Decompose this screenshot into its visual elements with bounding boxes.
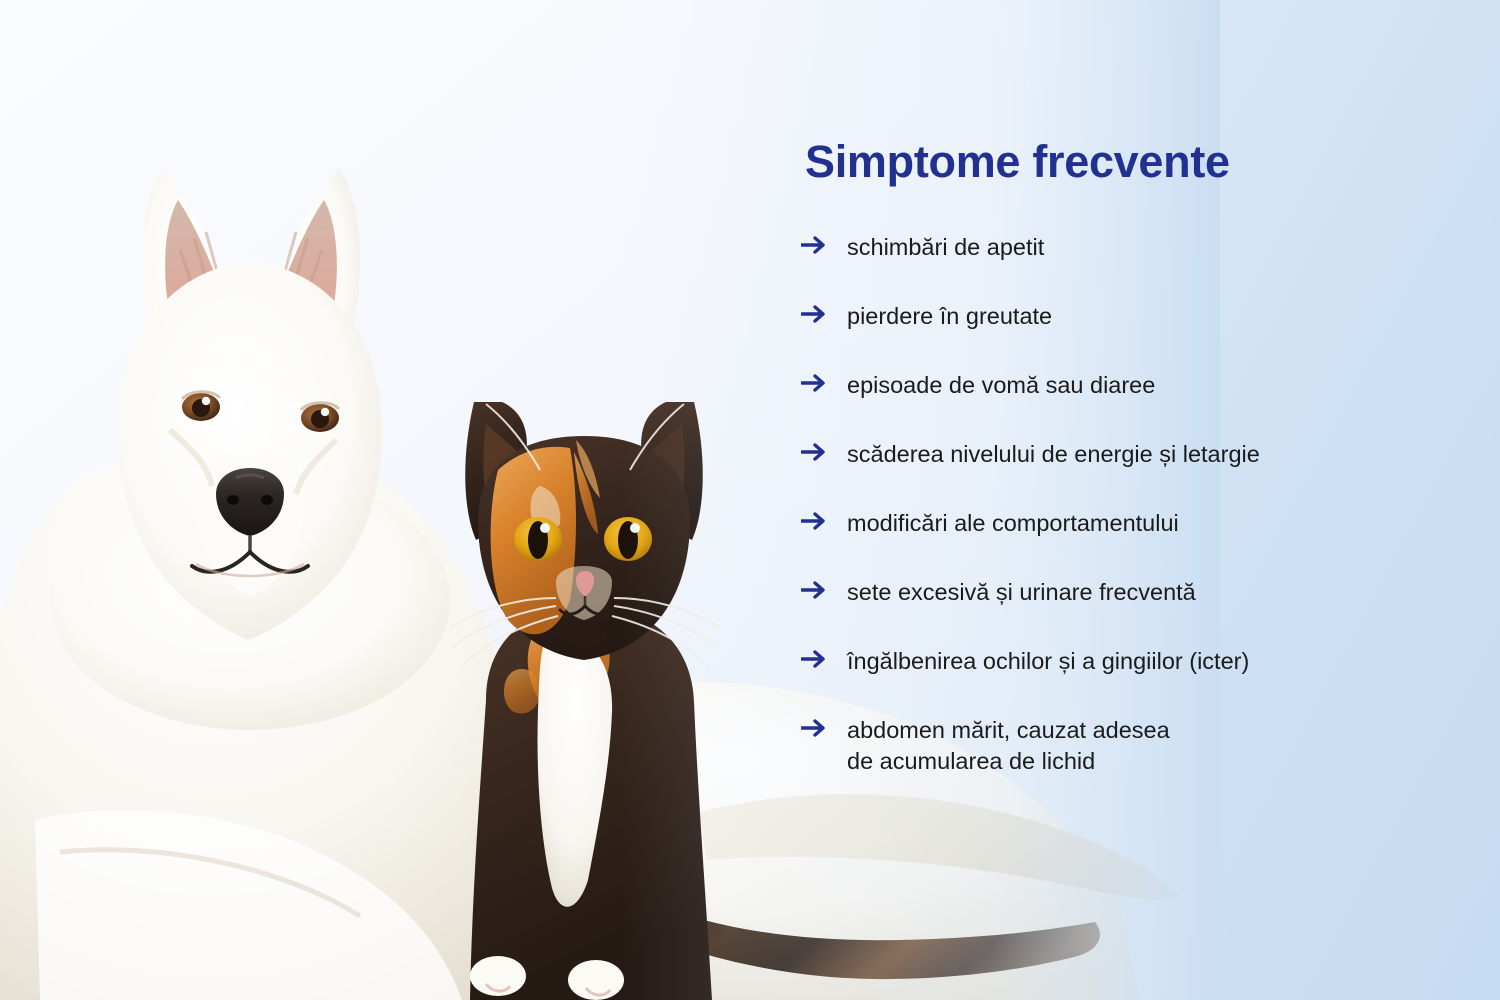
- symptom-label: scăderea nivelului de energie și letargi…: [847, 439, 1455, 470]
- list-item: abdomen mărit, cauzat adesea de acumular…: [795, 715, 1455, 807]
- list-item: modificări ale comportamentului: [795, 508, 1455, 577]
- list-item: pierdere în greutate: [795, 301, 1455, 370]
- list-item: îngălbenirea ochilor și a gingiilor (ict…: [795, 646, 1455, 715]
- arrow-right-icon: [801, 236, 831, 254]
- symptom-label: îngălbenirea ochilor și a gingiilor (ict…: [847, 646, 1455, 677]
- symptom-label: abdomen mărit, cauzat adesea de acumular…: [847, 715, 1455, 777]
- list-item: scăderea nivelului de energie și letargi…: [795, 439, 1455, 508]
- arrow-right-icon: [801, 650, 831, 668]
- symptom-label: schimbări de apetit: [847, 232, 1455, 263]
- symptoms-panel: Simptome frecvente schimbări de apetit p…: [795, 0, 1455, 1000]
- list-item: sete excesivă și urinare frecventă: [795, 577, 1455, 646]
- page-title: Simptome frecvente: [805, 136, 1230, 188]
- arrow-right-icon: [801, 443, 831, 461]
- arrow-right-icon: [801, 305, 831, 323]
- symptoms-list: schimbări de apetit pierdere în greutate…: [795, 232, 1455, 807]
- symptom-label: sete excesivă și urinare frecventă: [847, 577, 1455, 608]
- list-item: episoade de vomă sau diaree: [795, 370, 1455, 439]
- symptom-label: modificări ale comportamentului: [847, 508, 1455, 539]
- list-item: schimbări de apetit: [795, 232, 1455, 301]
- symptom-label: pierdere în greutate: [847, 301, 1455, 332]
- arrow-right-icon: [801, 374, 831, 392]
- arrow-right-icon: [801, 581, 831, 599]
- cat-left-eye: [514, 517, 562, 561]
- symptom-label: episoade de vomă sau diaree: [847, 370, 1455, 401]
- arrow-right-icon: [801, 512, 831, 530]
- symptoms-infographic: Simptome frecvente schimbări de apetit p…: [0, 0, 1500, 1000]
- arrow-right-icon: [801, 719, 831, 737]
